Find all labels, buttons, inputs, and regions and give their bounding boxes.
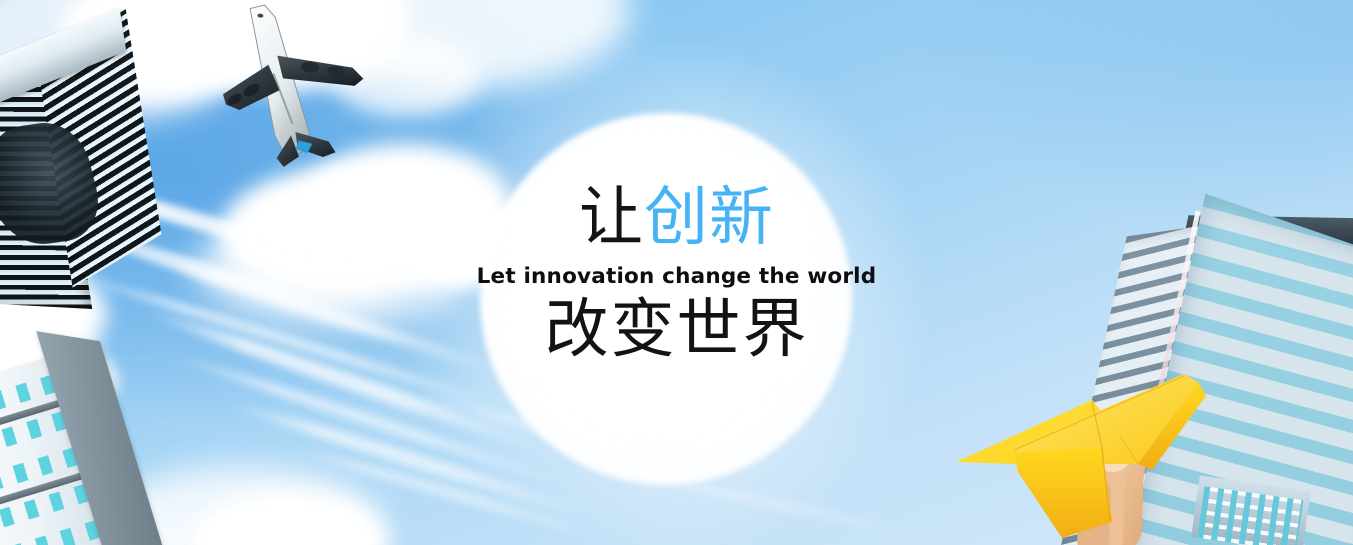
hero-copy: 让创新 Let innovation change the world 改变世界 — [0, 186, 1353, 364]
paper-airplane-with-hand — [952, 352, 1242, 545]
headline-word-accent: 创新 — [644, 181, 774, 255]
jet-airliner-icon — [214, 0, 382, 178]
hero-subtitle: Let innovation change the world — [0, 264, 1353, 289]
hero-banner: 让创新 Let innovation change the world 改变世界 — [0, 0, 1353, 545]
headline-line-1: 让创新 — [0, 186, 1353, 251]
headline-word-black: 让 — [579, 181, 644, 255]
headline-line-2: 改变世界 — [0, 298, 1353, 363]
